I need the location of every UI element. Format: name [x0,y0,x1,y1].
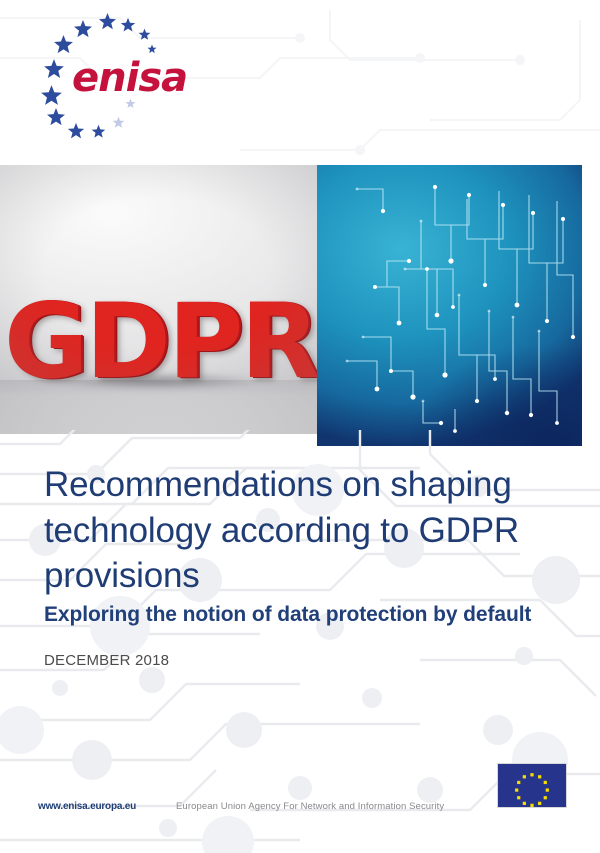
european-union-flag [497,763,567,808]
gdpr-letters-photo: GDPR [0,165,317,434]
enisa-logo: enisa [34,12,214,142]
page-footer: www.enisa.europa.eu European Union Agenc… [0,763,600,853]
page-title: Recommendations on shaping technology ac… [44,462,564,599]
gdpr-photo-vignette [0,165,317,434]
title-block: Recommendations on shaping technology ac… [44,462,564,669]
cover-image-band: GDPR [0,165,600,447]
document-cover-page: enisa GDPR [0,0,600,853]
europe-circuit-map-photo [317,165,582,446]
europe-circuit-traces-icon [317,165,582,446]
page-subtitle: Exploring the notion of data protection … [44,602,564,628]
enisa-wordmark: enisa [72,58,187,98]
eu-flag-stars-icon [498,764,566,807]
agency-name-label: European Union Agency For Network and In… [176,801,444,812]
publication-date: DECEMBER 2018 [44,652,564,669]
enisa-website-link[interactable]: www.enisa.europa.eu [38,801,136,812]
